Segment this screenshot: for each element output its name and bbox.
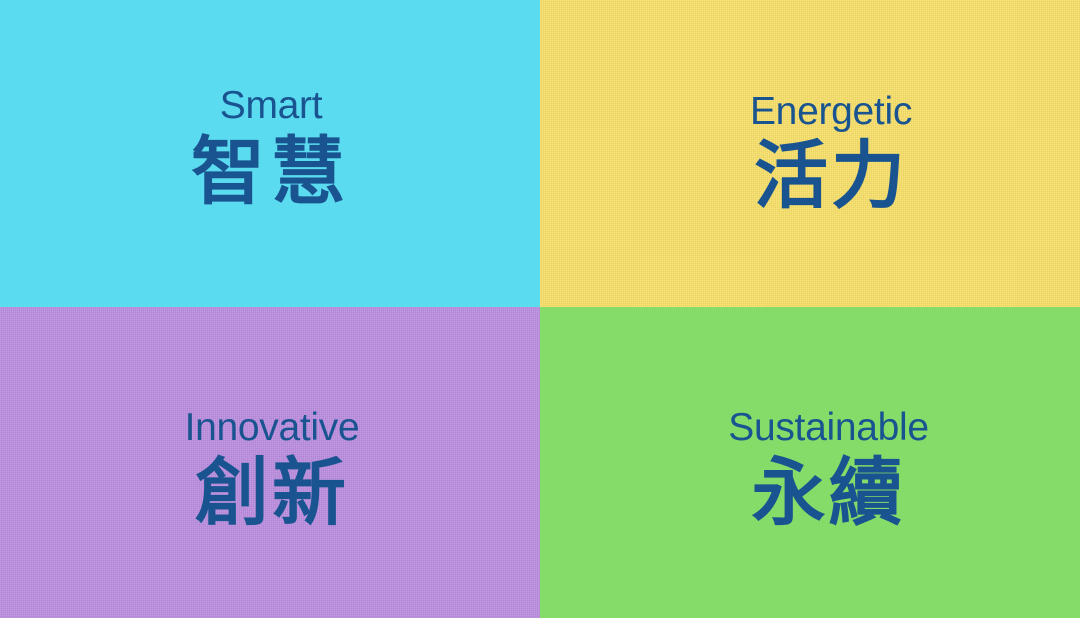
quadrant-smart-text-block: Smart 智慧 <box>191 86 351 209</box>
quadrant-smart: Smart 智慧 <box>0 0 540 307</box>
quadrant-smart-english-label: Smart <box>220 86 323 125</box>
quadrant-innovative-english-label: Innovative <box>185 408 360 447</box>
quadrant-sustainable: Sustainable 永續 <box>540 307 1080 618</box>
quadrant-energetic-english-label: Energetic <box>750 92 912 131</box>
quadrant-energetic: Energetic 活力 <box>540 0 1080 307</box>
quadrant-innovative-chinese-label: 創新 <box>195 456 349 530</box>
brand-values-graphic: Smart 智慧 Energetic 活力 Innovative 創新 Sust… <box>0 0 1080 618</box>
quadrant-grid: Smart 智慧 Energetic 活力 Innovative 創新 Sust… <box>0 0 1080 618</box>
quadrant-energetic-chinese-label: 活力 <box>754 139 908 213</box>
quadrant-sustainable-english-label: Sustainable <box>728 408 929 447</box>
quadrant-innovative: Innovative 創新 <box>0 307 540 618</box>
quadrant-energetic-text-block: Energetic 活力 <box>750 92 912 213</box>
quadrant-smart-chinese-label: 智慧 <box>191 135 351 209</box>
quadrant-innovative-text-block: Innovative 創新 <box>185 408 360 530</box>
quadrant-sustainable-chinese-label: 永續 <box>752 456 906 530</box>
quadrant-sustainable-text-block: Sustainable 永續 <box>728 408 929 530</box>
